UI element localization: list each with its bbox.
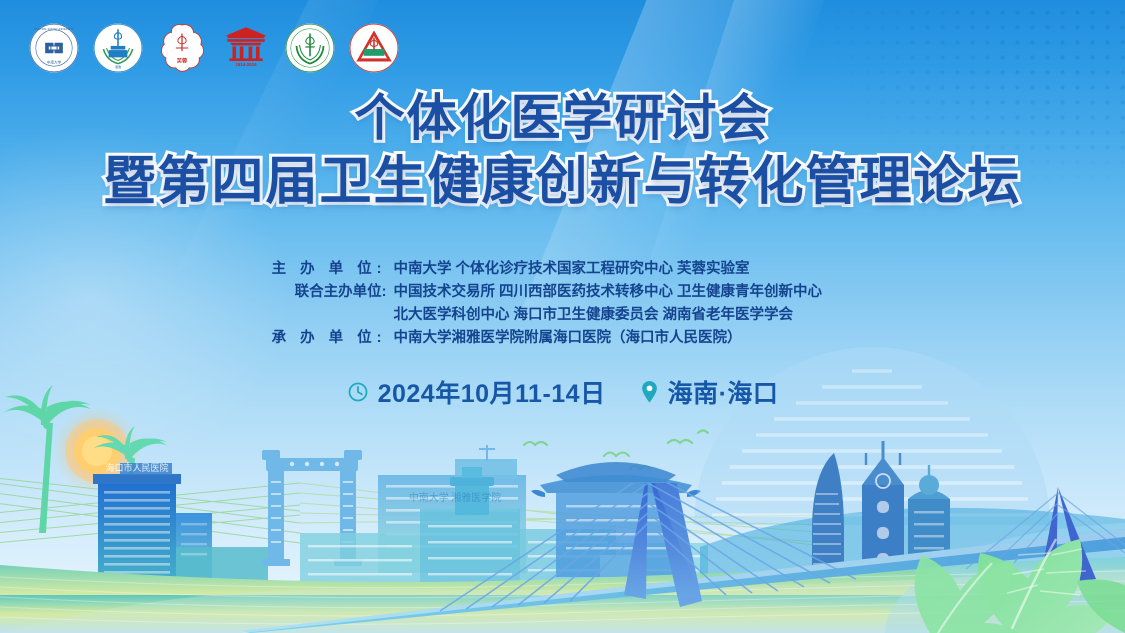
organizer-label: 联合主办单位: [263, 281, 387, 304]
event-meta: 2024年10月11-14日 海南·海口 [0, 374, 1125, 410]
organizer-row: 主 办 单 位: 中南大学 个体化诊疗技术国家工程研究中心 芙蓉实验室 [263, 258, 863, 281]
svg-text:湘雅: 湘雅 [115, 64, 121, 69]
location-pin-icon [640, 380, 659, 404]
organizer-label: 主 办 单 位: [263, 258, 387, 281]
title-line-2: 暨第四届卫生健康创新与转化管理论坛 [0, 155, 1125, 210]
xiangya-medical-logo: 湘雅 [92, 22, 144, 74]
title-line-1: 个体化医学研讨会 [0, 92, 1125, 145]
xiangya-anniversary-logo: 1914-2024 [220, 22, 272, 74]
furong-laboratory-logo: 芙蓉 [156, 22, 208, 74]
svg-text:中南大学 湘雅医学院: 中南大学 湘雅医学院 [409, 491, 502, 504]
haikou-peoples-hospital-logo [348, 22, 400, 74]
organizer-label [263, 304, 387, 327]
organizer-label: 承 办 单 位: [263, 327, 387, 350]
organizer-row: 承 办 单 位: 中南大学湘雅医学院附属海口医院（海口市人民医院） [263, 327, 863, 350]
svg-text:1914-2024: 1914-2024 [235, 62, 257, 67]
event-date: 2024年10月11-14日 [378, 374, 606, 410]
pagoda-building-icon [531, 462, 701, 577]
organizer-row: 联合主办单位: 中国技术交易所 四川西部医药技术转移中心 卫生健康青年创新中心 [263, 281, 863, 304]
organizer-value: 中南大学 个体化诊疗技术国家工程研究中心 芙蓉实验室 [387, 258, 863, 281]
organizer-row: 北大医学科创中心 海口市卫生健康委员会 湖南省老年医学学会 [263, 304, 863, 327]
conference-banner: 中南大学 CENTRAL SOUTH UNIVERSITY 湘雅 芙蓉 [0, 0, 1125, 633]
organizer-value: 中国技术交易所 四川西部医药技术转移中心 卫生健康青年创新中心 [387, 281, 863, 304]
sponsor-logo-strip: 中南大学 CENTRAL SOUTH UNIVERSITY 湘雅 芙蓉 [28, 22, 400, 74]
svg-text:海口市人民医院: 海口市人民医院 [105, 462, 168, 473]
haikou-health-commission-logo [284, 22, 336, 74]
organizer-value: 北大医学科创中心 海口市卫生健康委员会 湖南省老年医学学会 [387, 304, 863, 327]
event-location: 海南·海口 [668, 374, 779, 410]
organizer-list: 主 办 单 位: 中南大学 个体化诊疗技术国家工程研究中心 芙蓉实验室 联合主办… [0, 258, 1125, 350]
svg-text:CENTRAL SOUTH UNIVERSITY: CENTRAL SOUTH UNIVERSITY [34, 27, 74, 31]
svg-text:中南大学: 中南大学 [47, 60, 62, 65]
clock-icon [347, 381, 369, 403]
central-south-university-logo: 中南大学 CENTRAL SOUTH UNIVERSITY [28, 22, 80, 74]
title-block: 个体化医学研讨会 暨第四届卫生健康创新与转化管理论坛 [0, 92, 1125, 210]
organizer-value: 中南大学湘雅医学院附属海口医院（海口市人民医院） [387, 327, 863, 350]
